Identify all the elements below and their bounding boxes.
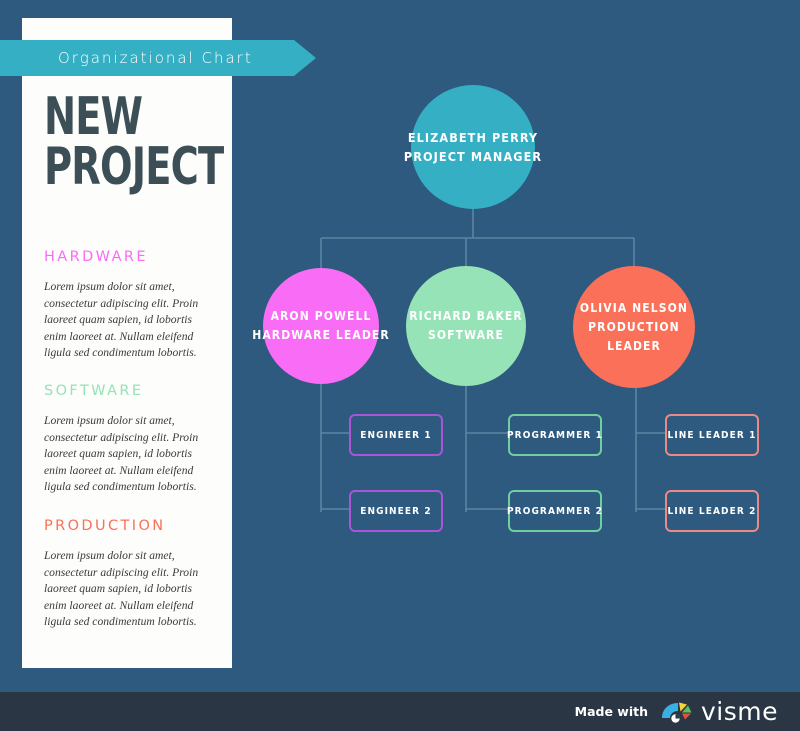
org-node-software-leader-line-1: RICHARD BAKER (409, 307, 523, 326)
section-heading-hardware: HARDWARE (44, 249, 216, 265)
section-body-hardware: Lorem ipsum dolor sit amet, consectetur … (44, 279, 216, 362)
org-node-software-leader-line-2: SOFTWARE (428, 326, 504, 345)
section-heading-software: SOFTWARE (44, 383, 216, 399)
section-body-software: Lorem ipsum dolor sit amet, consectetur … (44, 413, 216, 496)
ribbon-header: Organizational Chart (0, 40, 316, 76)
org-node-production-leader-line-3: LEADER (607, 337, 661, 356)
visme-logo[interactable]: visme (660, 698, 778, 726)
footer-bar: Made with visme (0, 692, 800, 731)
org-node-line-leader-2[interactable]: LINE LEADER 2 (665, 490, 759, 532)
section-body-production: Lorem ipsum dolor sit amet, consectetur … (44, 548, 216, 631)
org-node-line-leader-1[interactable]: LINE LEADER 1 (665, 414, 759, 456)
org-node-hardware-leader[interactable]: ARON POWELL HARDWARE LEADER (263, 268, 379, 384)
org-node-software-leader[interactable]: RICHARD BAKER SOFTWARE (406, 266, 526, 386)
org-node-production-leader[interactable]: OLIVIA NELSON PRODUCTION LEADER (573, 266, 695, 388)
section-heading-production: PRODUCTION (44, 518, 216, 534)
page-title-line-2: PROJECT (44, 142, 192, 192)
org-node-project-manager-line-2: PROJECT MANAGER (404, 147, 542, 166)
org-node-production-leader-line-1: OLIVIA NELSON (580, 299, 688, 318)
org-node-project-manager[interactable]: ELIZABETH PERRY PROJECT MANAGER (411, 85, 535, 209)
visme-wordmark: visme (701, 699, 778, 724)
page-title: NEW PROJECT (44, 92, 192, 192)
visme-fan-icon (660, 698, 694, 726)
org-node-hardware-leader-line-1: ARON POWELL (271, 307, 372, 326)
org-node-programmer-2[interactable]: PROGRAMMER 2 (508, 490, 602, 532)
org-node-programmer-1[interactable]: PROGRAMMER 1 (508, 414, 602, 456)
sidebar-section-hardware: HARDWARE Lorem ipsum dolor sit amet, con… (44, 249, 216, 362)
org-node-engineer-2[interactable]: ENGINEER 2 (349, 490, 443, 532)
org-node-engineer-1[interactable]: ENGINEER 1 (349, 414, 443, 456)
ribbon-label: Organizational Chart (58, 40, 253, 76)
org-node-hardware-leader-line-2: HARDWARE LEADER (252, 326, 390, 345)
made-with-label: Made with (575, 704, 648, 719)
org-node-production-leader-line-2: PRODUCTION (588, 318, 680, 337)
org-node-project-manager-line-1: ELIZABETH PERRY (408, 128, 538, 147)
sidebar-section-software: SOFTWARE Lorem ipsum dolor sit amet, con… (44, 383, 216, 496)
infographic-canvas: Organizational Chart NEW PROJECT HARDWAR… (0, 0, 800, 731)
sidebar-section-production: PRODUCTION Lorem ipsum dolor sit amet, c… (44, 518, 216, 631)
page-title-line-1: NEW (44, 92, 192, 142)
